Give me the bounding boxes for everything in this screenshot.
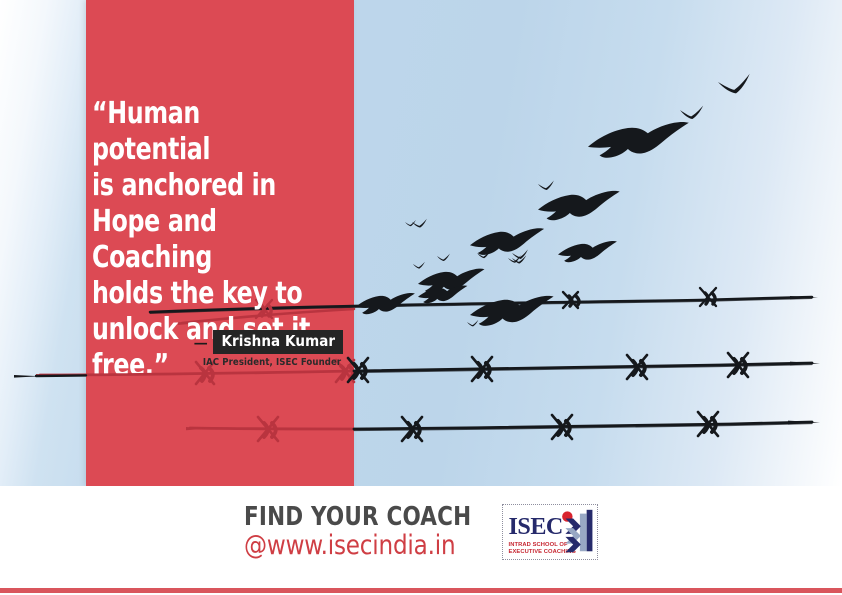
isec-tagline-line1: INTRAD SCHOOL OF (508, 542, 567, 548)
barbed-wire-strand (14, 375, 86, 378)
artwork-area: “Human potential is anchored in Hope and… (0, 0, 842, 486)
footer-text-group: FIND YOUR COACH @www.isecindia.in (244, 502, 491, 560)
attribution-name-row: – Krishna Kumar (196, 330, 343, 354)
barbed-wire-strand-red (186, 417, 354, 441)
attribution-dash: – (194, 334, 208, 351)
footer-website-url[interactable]: @www.isecindia.in (244, 531, 455, 560)
bottom-accent-rule (0, 588, 842, 593)
attribution-name-plate: Krishna Kumar (213, 330, 343, 354)
isec-wordmark-text: ISEC (508, 514, 562, 540)
attribution-role: IAC President, ISEC Founder (203, 357, 341, 368)
isec-logo[interactable]: ISEC INTRAD SCHOOL OF EXECUTIVE COACHING (502, 504, 598, 560)
attribution: – Krishna Kumar IAC President, ISEC Foun… (196, 330, 343, 368)
footer-bar: FIND YOUR COACH @www.isecindia.in ISEC I… (0, 486, 842, 595)
barbed-wire-strand (348, 353, 820, 382)
barbed-wire-front-layer (0, 0, 842, 486)
poster-canvas: “Human potential is anchored in Hope and… (0, 0, 842, 595)
barbed-wire-strand (354, 412, 820, 441)
footer-content: FIND YOUR COACH @www.isecindia.in ISEC I… (0, 502, 842, 560)
footer-headline: FIND YOUR COACH (244, 504, 471, 531)
isec-logo-graphic: ISEC INTRAD SCHOOL OF EXECUTIVE COACHING (503, 505, 597, 559)
